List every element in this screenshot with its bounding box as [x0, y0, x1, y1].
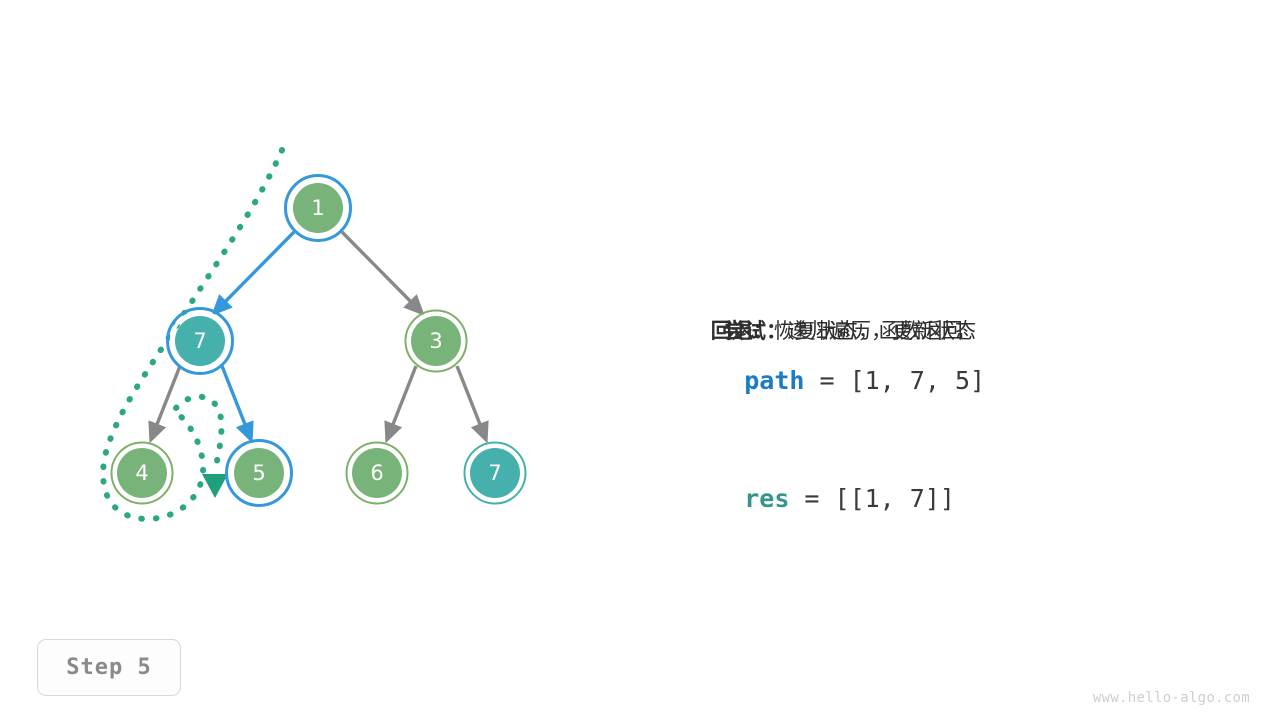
backtrack-arrowhead	[202, 474, 228, 498]
info-panel: 尝试：递归遍历，更新状态 回退：恢复状态，函数返回 path = [1, 7, …	[684, 206, 1224, 474]
back-text: 恢复状态，函数返回	[774, 319, 963, 343]
tree-node-3[interactable]: 3	[406, 311, 467, 372]
watermark-text: www.hello-algo.com	[1093, 690, 1250, 706]
tree-node-7-right-label: 7	[488, 461, 501, 485]
edge-7-to-5	[222, 366, 250, 437]
back-label: 回退：	[711, 319, 774, 343]
tree-node-6-label: 6	[370, 461, 383, 485]
tree-node-4[interactable]: 4	[112, 443, 173, 504]
tree-nodes: 1 7 3 4 5	[112, 176, 526, 506]
tree-node-7-left[interactable]: 7	[168, 309, 233, 374]
back-line-row: 回退：恢复状态，函数返回	[684, 256, 1224, 306]
tree-node-7-left-label: 7	[193, 329, 206, 353]
path-equals: =	[804, 366, 849, 395]
tree-node-1[interactable]: 1	[286, 176, 351, 241]
tree-node-4-label: 4	[135, 461, 148, 485]
step-badge-label: Step 5	[66, 655, 151, 680]
tree-node-3-label: 3	[429, 329, 442, 353]
edge-3-to-7r	[457, 366, 485, 437]
path-variable-name: path	[744, 366, 804, 395]
res-code-line: res = [[1, 7]]	[684, 424, 1224, 474]
edge-1-to-7	[216, 232, 294, 311]
binary-tree-diagram: 1 7 3 4 5	[0, 0, 640, 600]
edge-7-to-4	[152, 366, 180, 437]
res-equals: =	[789, 484, 834, 513]
tree-node-6[interactable]: 6	[347, 443, 408, 504]
try-line-row: 尝试：递归遍历，更新状态	[684, 206, 1224, 256]
edge-3-to-6	[388, 366, 416, 437]
step-badge: Step 5	[37, 639, 181, 696]
path-value: [1, 7, 5]	[850, 366, 985, 395]
tree-node-7-right[interactable]: 7	[465, 443, 526, 504]
res-variable-name: res	[744, 484, 789, 513]
watermark: www.hello-algo.com	[1093, 690, 1250, 706]
tree-node-1-label: 1	[311, 196, 324, 220]
res-value: [[1, 7]]	[835, 484, 955, 513]
edge-1-to-3	[342, 232, 420, 311]
tree-node-5-label: 5	[252, 461, 265, 485]
tree-node-5[interactable]: 5	[227, 441, 292, 506]
